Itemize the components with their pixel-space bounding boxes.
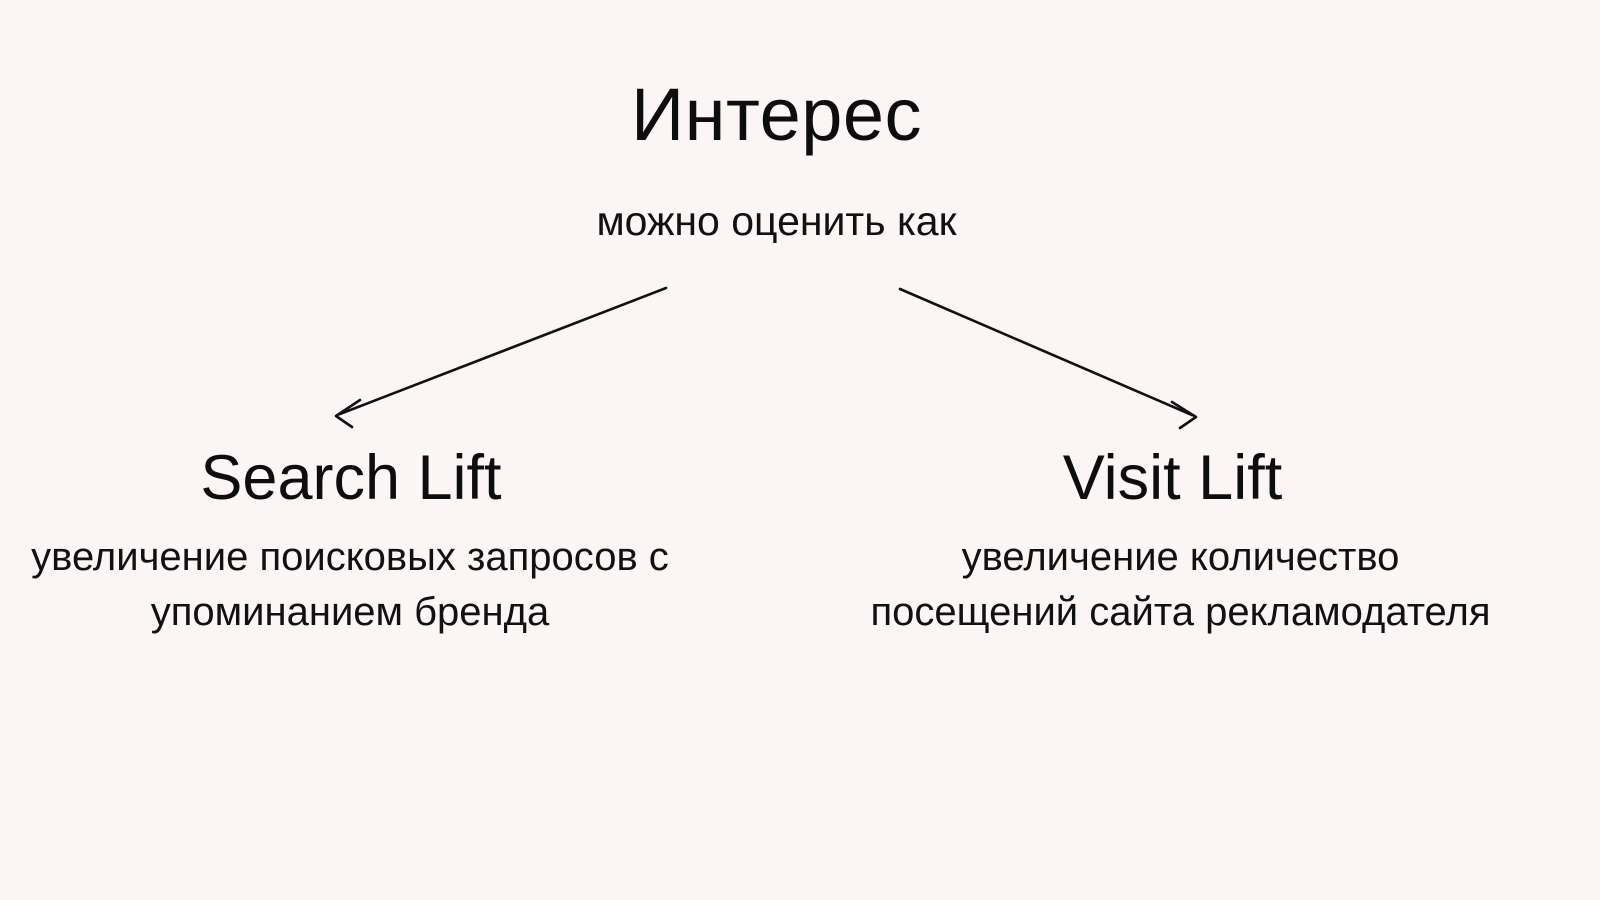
root-node-title: Интерес <box>0 76 1553 154</box>
diagram-canvas: Интерес можно оценить как Search Lift ув… <box>0 0 1600 900</box>
branch-search-lift: Search Lift увеличение поисковых запросо… <box>0 444 700 640</box>
branch-visit-lift: Visit Lift увеличение количество посещен… <box>845 444 1500 640</box>
arrow-to-visit-lift <box>900 289 1196 428</box>
arrow-to-search-lift <box>336 288 666 427</box>
branch-description-search-lift: увеличение поисковых запросов с упоминан… <box>0 530 702 640</box>
branch-title-search-lift: Search Lift <box>0 444 700 513</box>
branch-title-visit-lift: Visit Lift <box>845 444 1500 513</box>
root-connector-label: можно оценить как <box>0 198 1553 245</box>
branch-description-visit-lift: увеличение количество посещений сайта ре… <box>845 530 1508 640</box>
